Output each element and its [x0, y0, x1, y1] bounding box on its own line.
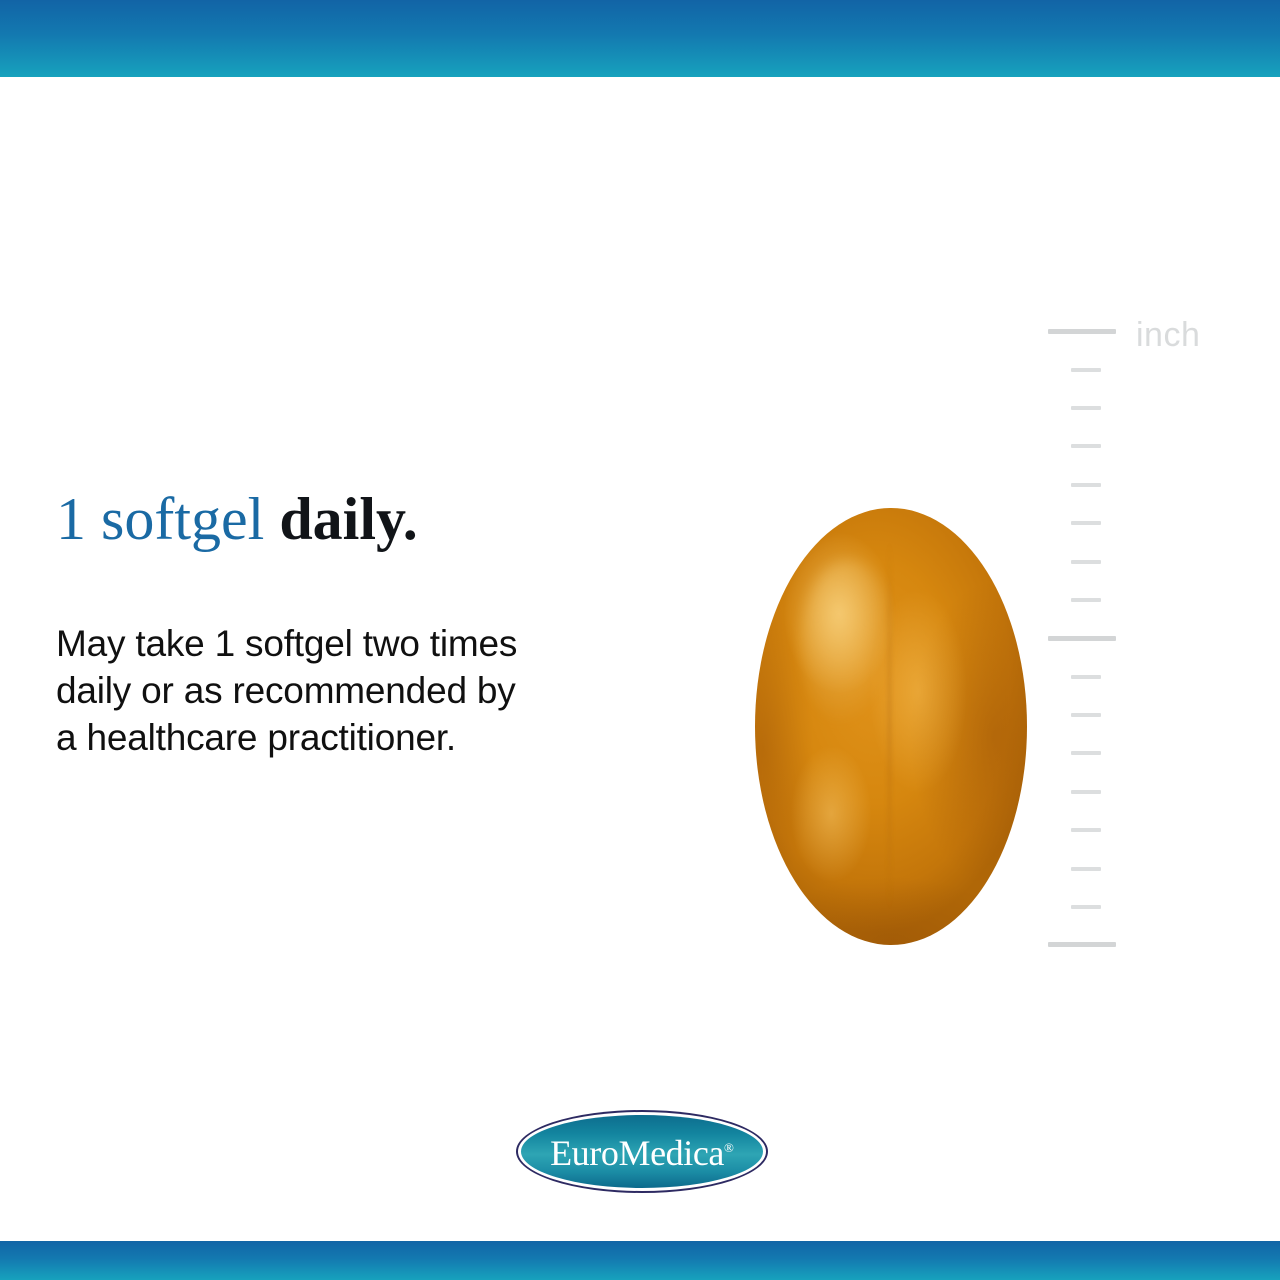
ruler-tick-minor — [1071, 406, 1101, 410]
dosage-line-1: May take 1 softgel two times — [56, 620, 676, 667]
dosage-text-column: 1 softgel daily. May take 1 softgel two … — [56, 488, 676, 761]
bottom-brand-bar — [0, 1241, 1280, 1280]
inch-ruler: inch — [1040, 318, 1240, 958]
ruler-tick-minor — [1071, 368, 1101, 372]
softgel-seam — [888, 539, 891, 915]
registered-mark-icon: ® — [724, 1140, 734, 1155]
softgel-highlight — [801, 560, 893, 726]
dosage-line-3: a healthcare practitioner. — [56, 714, 676, 761]
ruler-tick-minor — [1071, 751, 1101, 755]
ruler-tick-minor — [1071, 560, 1101, 564]
logo-wordmark: EuroMedica® — [550, 1130, 734, 1171]
headline-rest: daily. — [264, 486, 417, 552]
ruler-tick-minor — [1071, 521, 1101, 525]
dosage-instructions: May take 1 softgel two times daily or as… — [56, 620, 676, 761]
top-brand-bar — [0, 0, 1280, 77]
ruler-tick-minor — [1071, 713, 1101, 717]
logo-brand-name: EuroMedica — [550, 1133, 724, 1173]
dosage-line-2: daily or as recommended by — [56, 667, 676, 714]
page-title: 1 softgel daily. — [56, 488, 676, 551]
ruler-tick-minor — [1071, 598, 1101, 602]
ruler-tick-major — [1048, 636, 1116, 641]
ruler-tick-minor — [1071, 444, 1101, 448]
ruler-tick-minor — [1071, 828, 1101, 832]
ruler-tick-minor — [1071, 675, 1101, 679]
ruler-tick-minor — [1071, 790, 1101, 794]
ruler-tick-minor — [1071, 905, 1101, 909]
ruler-tick-major — [1048, 942, 1116, 947]
softgel-body — [755, 508, 1027, 945]
softgel-capsule-image — [755, 508, 1027, 945]
ruler-tick-major — [1048, 329, 1116, 334]
logo-fill: EuroMedica® — [521, 1115, 763, 1188]
headline-highlight: 1 softgel — [56, 486, 264, 552]
ruler-tick-minor — [1071, 483, 1101, 487]
product-detail-panel: 1 softgel daily. May take 1 softgel two … — [0, 0, 1280, 1280]
euromedica-logo: EuroMedica® — [516, 1110, 768, 1193]
ruler-unit-label: inch — [1136, 318, 1200, 352]
ruler-tick-minor — [1071, 867, 1101, 871]
